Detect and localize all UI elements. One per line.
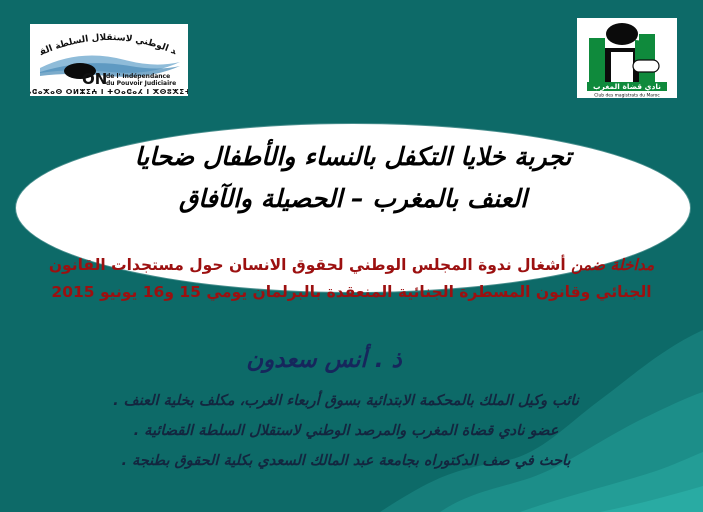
logo-left-tifinagh-line: ⴰⵛⴰⵅⴰⵙ ⵔⵍⵣⵉⵄ Ⅰ ⵜⵔⴰⵛⴰⵃ Ⅰ ⵅⵙⵓⵅⵉⵜ <box>30 88 188 96</box>
affiliation-line: نائب وكيل الملك بالمحكمة الابتدائية بسوق… <box>10 386 682 416</box>
affiliation-line: عضو نادي قضاة المغرب والمرصد الوطني لاست… <box>10 416 682 446</box>
observatoire-logo-graphic: المرصد الوطني لاستقلال السلطة القضائية O… <box>30 24 188 96</box>
conference-info: مداخلة ضمن أشغال ندوة المجلس الوطني لحقو… <box>10 252 693 306</box>
logo-observatoire-national: المرصد الوطني لاستقلال السلطة القضائية O… <box>30 24 188 96</box>
conference-line-1-rest: أشغال ندوة المجلس الوطني لحقوق الانسان ح… <box>49 256 566 274</box>
conference-emphasis: مداخلة ضمن <box>571 256 654 274</box>
logo-left-acronym: ON <box>82 70 107 88</box>
logo-club-magistrats: نادي قضاة المغرب Club des magistrats du … <box>577 18 677 98</box>
title-line-1: تجربة خلايا التكفل بالنساء والأطفال ضحاي… <box>40 136 666 178</box>
title-line-2: العنف بالمغرب – الحصيلة والآفاق <box>40 178 666 220</box>
page-title: تجربة خلايا التكفل بالنساء والأطفال ضحاي… <box>40 136 666 220</box>
speaker-name: ذ . أنس سعدون <box>0 344 648 376</box>
presentation-slide: المرصد الوطني لاستقلال السلطة القضائية O… <box>0 0 703 512</box>
logo-left-french-line2: du Pouvoir Judiciaire <box>106 80 176 87</box>
logo-left-french-line1: de l' Indépendance <box>106 73 170 80</box>
logo-right-arabic-title: نادي قضاة المغرب <box>593 82 661 91</box>
logo-right-french-title: Club des magistrats du Maroc <box>594 93 660 99</box>
club-magistrats-logo-graphic: نادي قضاة المغرب Club des magistrats du … <box>577 18 677 98</box>
conference-line-2: الجنائي وقانون المسطرة الجنائية المنعقدة… <box>10 279 693 306</box>
affiliation-line: باحث في صف الدكتوراه بجامعة عبد المالك ا… <box>10 446 682 476</box>
conference-line-1: مداخلة ضمن أشغال ندوة المجلس الوطني لحقو… <box>10 252 693 279</box>
speaker-affiliations: نائب وكيل الملك بالمحكمة الابتدائية بسوق… <box>10 386 682 476</box>
